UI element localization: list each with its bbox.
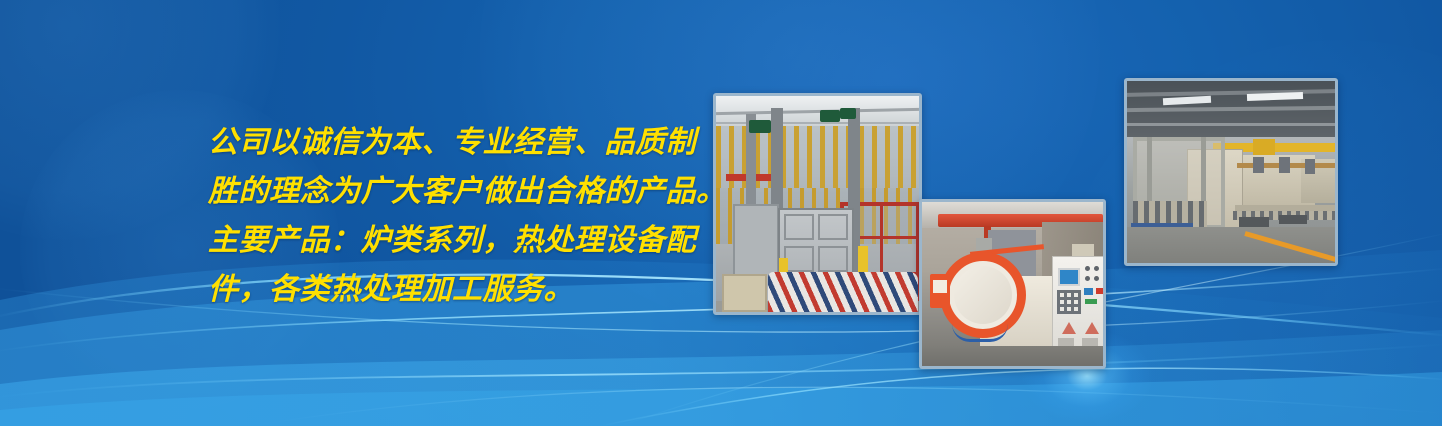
photo-2-scene <box>922 202 1103 366</box>
headline-copy: 公司以诚信为本、专业经营、品质制 胜的理念为广大客户做出合格的产品。 主要产品：… <box>208 118 728 314</box>
photo-3-scene <box>1127 81 1335 263</box>
product-photo-furnace-workshop <box>713 93 922 315</box>
headline-line-1: 公司以诚信为本、专业经营、品质制 <box>208 118 728 167</box>
company-intro-banner: 公司以诚信为本、专业经营、品质制 胜的理念为广大客户做出合格的产品。 主要产品：… <box>0 0 1442 426</box>
product-photo-furnace-line <box>1124 78 1338 266</box>
headline-line-4: 件，各类热处理加工服务。 <box>208 265 728 314</box>
headline-line-3: 主要产品：炉类系列，热处理设备配 <box>208 216 728 265</box>
headline-line-2: 胜的理念为广大客户做出合格的产品。 <box>208 167 728 216</box>
product-photo-vacuum-furnace <box>919 199 1106 369</box>
photo-1-scene <box>716 96 919 312</box>
